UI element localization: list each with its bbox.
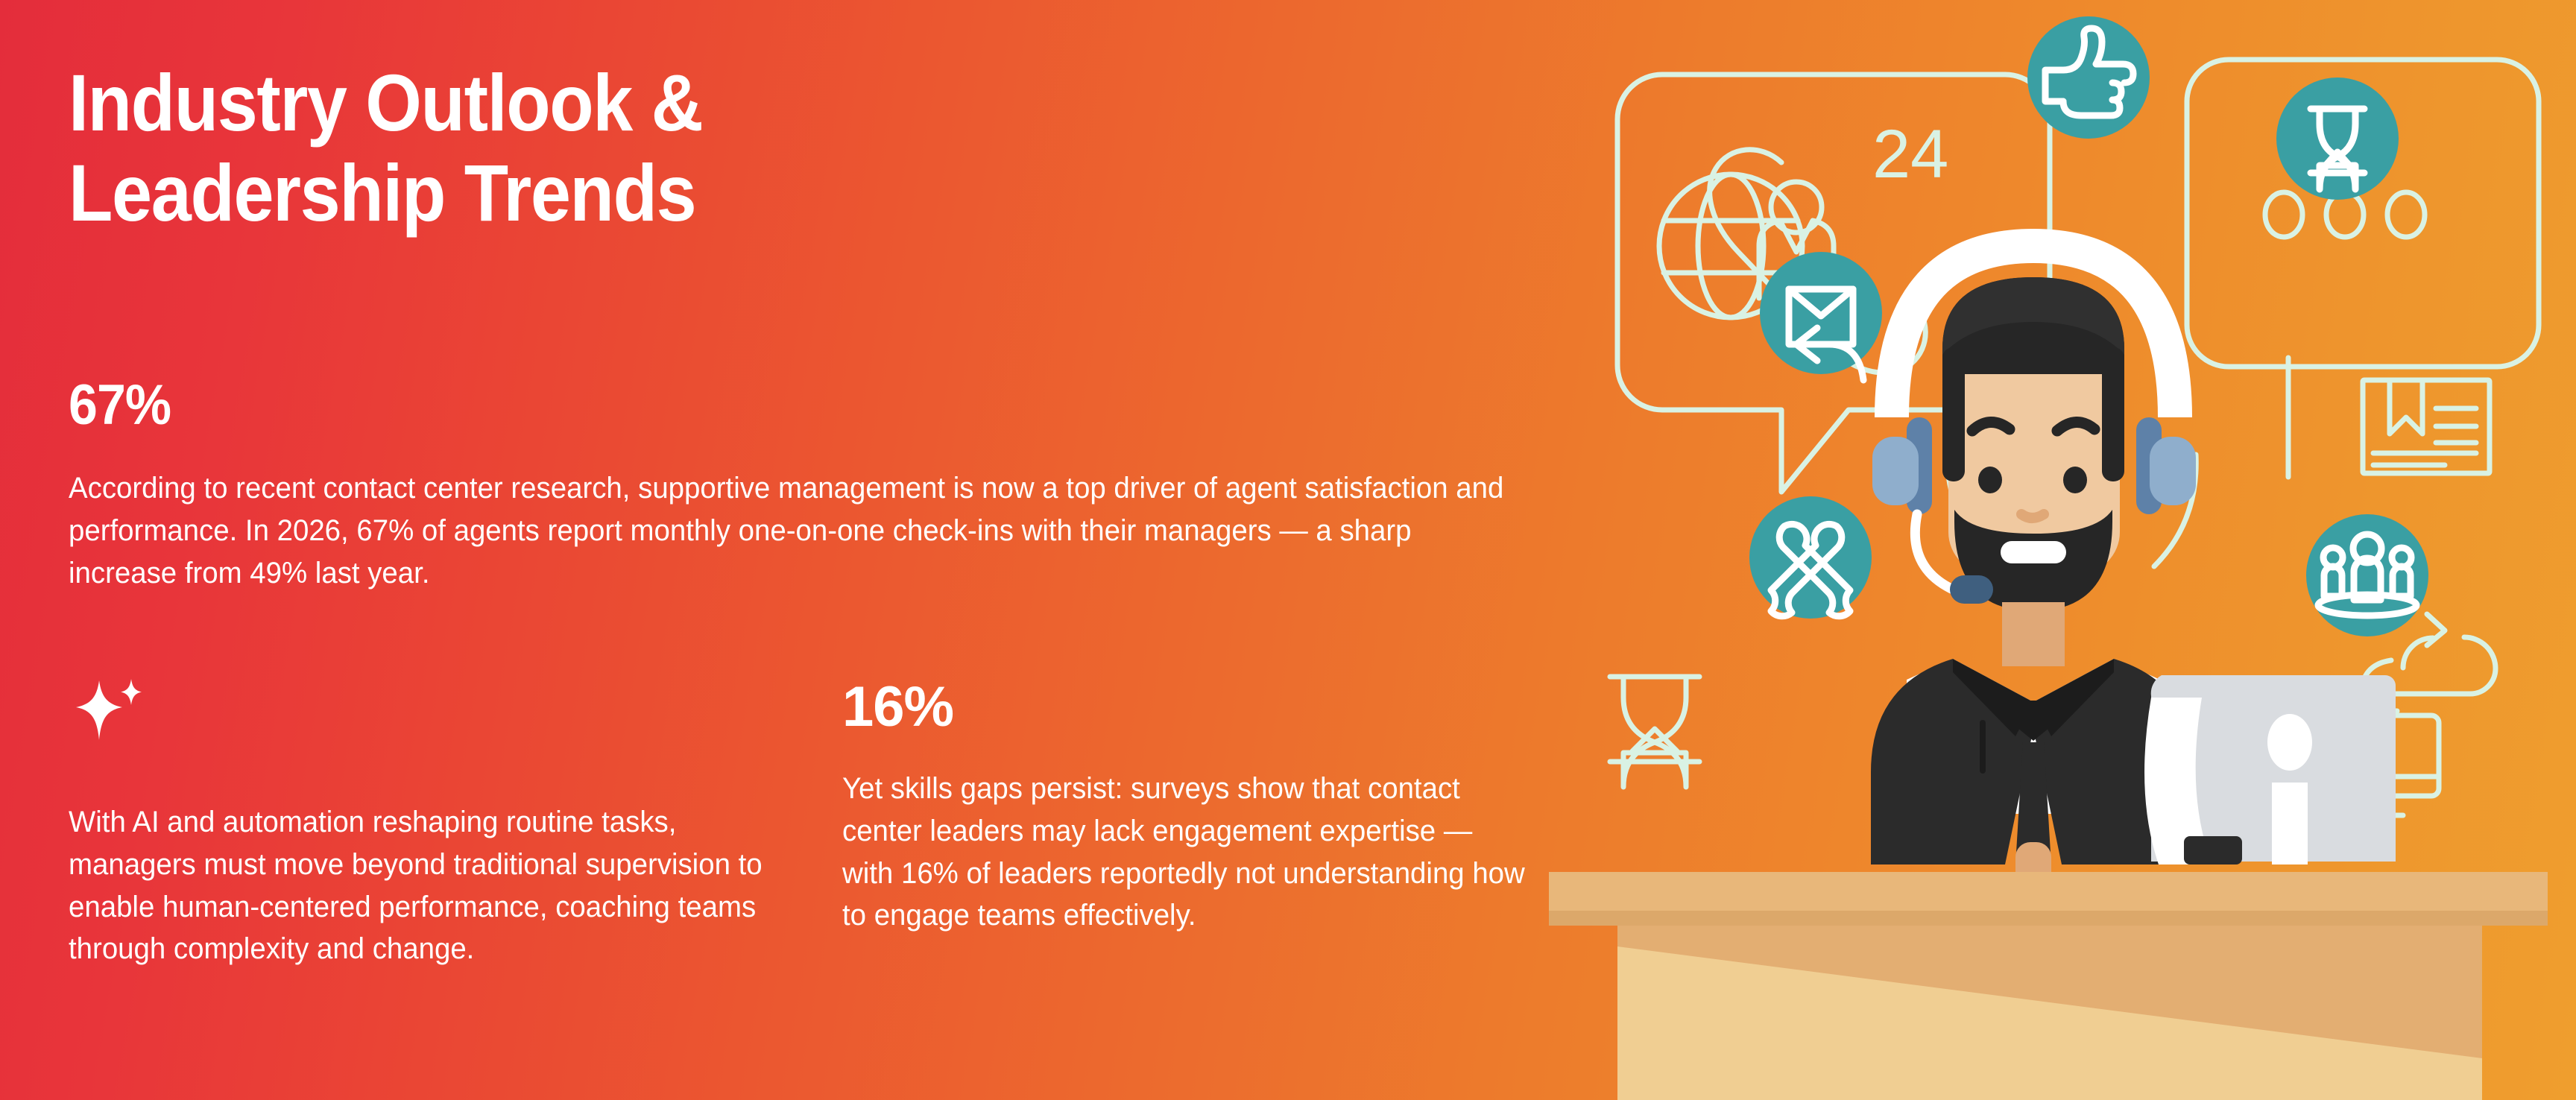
bookmarked-document-icon — [2363, 380, 2490, 473]
stat-block-ai: With AI and automation reshaping routine… — [69, 674, 784, 970]
mic-boom — [1915, 514, 1951, 589]
thumbs-up-badge — [2027, 16, 2150, 139]
mouth-smile — [2001, 541, 2066, 563]
keyboard — [2184, 836, 2242, 864]
desk-top — [1549, 872, 2548, 911]
stat-value-16: 16% — [842, 675, 953, 739]
desktop-monitor — [2144, 675, 2396, 864]
desk — [1549, 872, 2548, 1100]
headset-left — [1872, 417, 1932, 514]
stat-body-skills: Yet skills gaps persist: surveys show th… — [842, 768, 1529, 937]
text-pane: Industry Outlook & Leadership Trends 67%… — [0, 0, 1580, 1100]
stat-block-skills: 16% Yet skills gaps persist: surveys sho… — [842, 674, 1535, 937]
nose — [2021, 514, 2044, 518]
neck — [2002, 602, 2065, 666]
page-title: Industry Outlook & Leadership Trends — [69, 58, 1075, 238]
teal-circle — [2276, 78, 2399, 200]
teal-circle — [1749, 496, 1872, 619]
sideburn-right — [2102, 347, 2124, 481]
eye-right — [2063, 467, 2087, 493]
headset-right — [2136, 417, 2196, 514]
ai-sparkle-icon — [69, 674, 151, 749]
desk-edge — [1549, 911, 2548, 926]
contact-center-agent — [1549, 246, 2548, 1100]
stat-value-67: 67% — [69, 373, 1440, 437]
mail-reply-badge — [1760, 252, 1882, 380]
hourglass-badge — [2276, 78, 2399, 200]
agent-illustration: .ol { fill:none; stroke:#D9F2E4; stroke-… — [1535, 0, 2576, 1100]
stat-body-ai: With AI and automation reshaping routine… — [69, 801, 784, 970]
mic-tip — [1950, 575, 1993, 604]
stat-block-primary: 67% According to recent contact center r… — [69, 373, 1559, 594]
team-group-badge — [2306, 514, 2428, 636]
infographic-canvas: Industry Outlook & Leadership Trends 67%… — [0, 0, 2576, 1100]
sideburn-left — [1942, 347, 1965, 481]
crossed-wrenches-badge — [1749, 496, 1872, 619]
hours-24-label: 24 — [1872, 116, 1948, 192]
eye-left — [1978, 467, 2002, 493]
hourglass-outline-icon — [1610, 677, 1699, 787]
stat-body-primary: According to recent contact center resea… — [69, 467, 1514, 594]
jacket-seam — [1980, 720, 1986, 774]
